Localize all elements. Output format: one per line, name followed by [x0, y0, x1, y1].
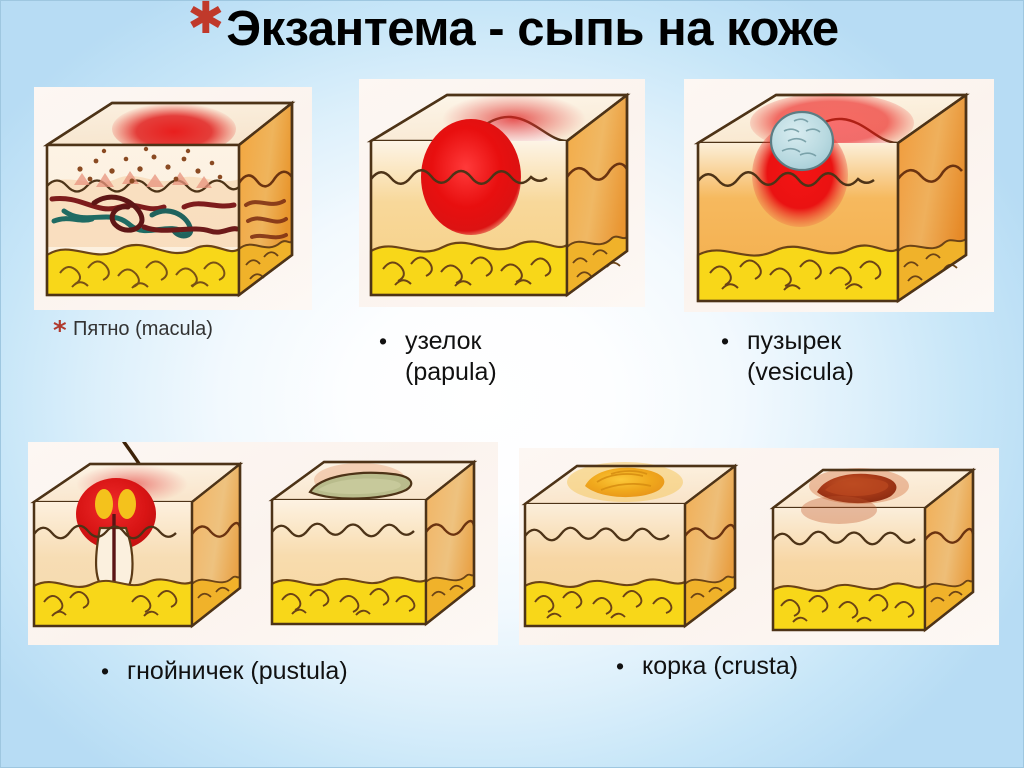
caption-macula: * Пятно (macula)	[53, 317, 323, 345]
skin-block-papula-diagram	[359, 79, 645, 307]
page-title-text: Экзантема - сыпь на коже	[226, 1, 838, 57]
caption-vesicula: • пузырек (vesicula)	[721, 326, 991, 388]
caption-papula: • узелок (papula)	[379, 326, 629, 388]
slide-canvas: ✱ Экзантема - сыпь на коже	[0, 0, 1024, 768]
skin-block-vesicula-diagram	[684, 79, 994, 312]
caption-crusta-text: корка (crusta)	[642, 651, 798, 682]
dot-bullet-icon: •	[721, 326, 747, 357]
skin-block-macula-diagram	[34, 87, 312, 310]
dot-bullet-icon: •	[379, 326, 405, 357]
asterisk-bullet-icon: ✱	[187, 0, 224, 39]
caption-crusta: • корка (crusta)	[616, 651, 946, 682]
skin-block-pustula-pair-diagram	[28, 442, 498, 645]
dot-bullet-icon: •	[101, 656, 127, 687]
figure-panel-pustula	[28, 442, 498, 645]
figure-panel-macula	[34, 87, 312, 310]
caption-pustula: • гнойничек (pustula)	[101, 656, 521, 687]
dot-bullet-icon: •	[616, 651, 642, 682]
caption-macula-text: Пятно (macula)	[73, 317, 213, 342]
page-title: ✱ Экзантема - сыпь на коже	[1, 1, 1024, 69]
asterisk-bullet-icon: *	[53, 317, 73, 345]
figure-panel-vesicula	[684, 79, 994, 312]
caption-vesicula-text: пузырек (vesicula)	[747, 326, 854, 388]
figure-panel-papula	[359, 79, 645, 307]
caption-papula-text: узелок (papula)	[405, 326, 497, 388]
figure-panel-crusta	[519, 448, 999, 645]
caption-pustula-text: гнойничек (pustula)	[127, 656, 348, 687]
skin-block-crusta-pair-diagram	[519, 448, 999, 645]
